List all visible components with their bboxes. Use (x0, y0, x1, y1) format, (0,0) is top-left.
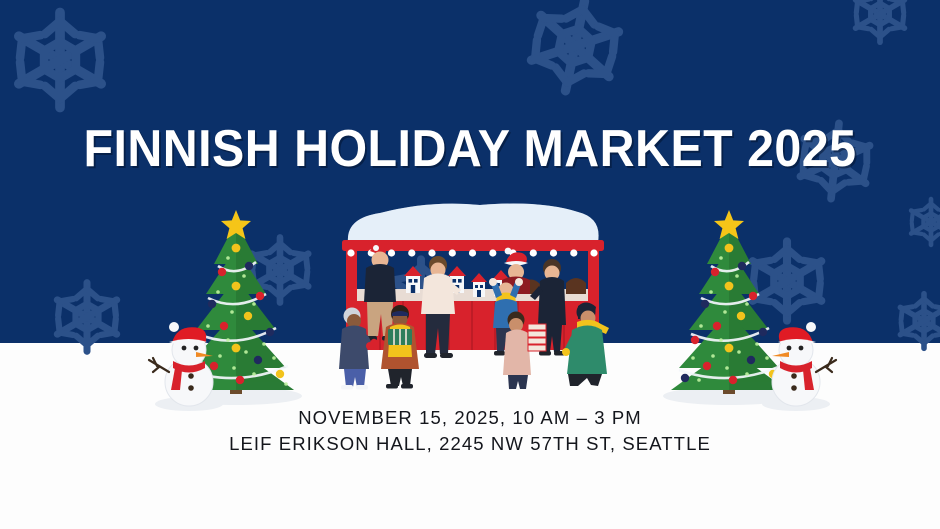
page-title: FINNISH HOLIDAY MARKET 2025 (33, 119, 907, 179)
snowflake-right-edge (905, 196, 940, 248)
event-venue-address: LEIF ERIKSON HALL, 2245 NW 57TH ST, SEAT… (0, 433, 940, 455)
holiday-market-poster: FINNISH HOLIDAY MARKET 2025 NOVEMBER 15,… (0, 0, 940, 529)
snowman-right (752, 316, 838, 412)
snowman-left (147, 316, 233, 412)
event-date-time: NOVEMBER 15, 2025, 10 AM – 3 PM (0, 407, 940, 429)
holiday-market-stall (330, 196, 615, 391)
snowflake-far-right (893, 290, 940, 352)
snowflake-left-mid (48, 278, 126, 356)
snowflake-top-mid (523, 0, 627, 98)
snowflake-top-right (848, 0, 912, 46)
snowflake-top-left (6, 6, 114, 114)
